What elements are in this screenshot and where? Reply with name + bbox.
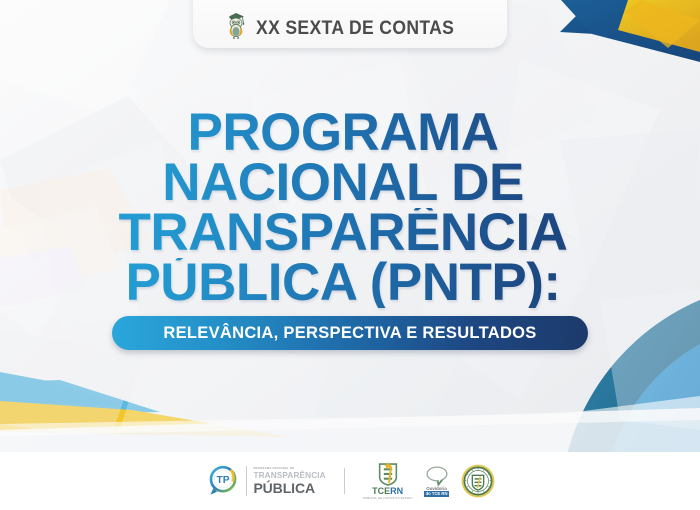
tce-rn-logo: TCERN TRIBUNAL DE CONTAS DO ESTADO — [363, 462, 413, 501]
ouvidoria-sub: do TCE RN — [424, 491, 450, 497]
footer-logo-bar: TP PROGRAMA NACIONAL DE TRANSPARÊNCIA PÚ… — [0, 452, 700, 510]
title-line-2: NACIONAL DE — [0, 158, 686, 208]
tce-circular-seal-icon — [461, 464, 495, 498]
title-line-4: PÚBLICA (PNTP): — [0, 258, 686, 308]
speech-bubble-icon — [424, 465, 450, 486]
tce-subtitle: TRIBUNAL DE CONTAS DO ESTADO — [363, 497, 413, 501]
tce-name-b: RN — [390, 486, 403, 496]
tp-magnifier-icon: TP — [205, 463, 241, 499]
pntp-logo: TP PROGRAMA NACIONAL DE TRANSPARÊNCIA PÚ… — [205, 463, 325, 499]
tce-shield-icon — [377, 462, 399, 486]
tce-wordmark: TCERN — [372, 487, 403, 496]
event-header-tab[interactable]: XX SEXTA DE CONTAS — [193, 0, 507, 48]
tce-name-a: TCE — [372, 486, 390, 496]
title-line-3: TRANSPARÊNCIA — [0, 208, 686, 258]
pntp-publica: PÚBLICA — [253, 481, 325, 496]
footer-logos: TP PROGRAMA NACIONAL DE TRANSPARÊNCIA PÚ… — [205, 462, 494, 501]
subtitle-text: RELEVÂNCIA, PERSPECTIVA E RESULTADOS — [163, 324, 536, 343]
subtitle-badge: RELEVÂNCIA, PERSPECTIVA E RESULTADOS — [112, 316, 588, 350]
pntp-wordmark: PROGRAMA NACIONAL DE TRANSPARÊNCIA PÚBLI… — [246, 466, 325, 496]
owl-graduation-cap-icon — [224, 10, 247, 40]
ouvidoria-logo: Ouvidoria do TCE RN — [424, 465, 450, 497]
title-line-1: PROGRAMA — [0, 108, 686, 158]
poster-canvas: XX SEXTA DE CONTAS PROGRAMA NACIONAL DE … — [0, 0, 700, 510]
page-title: PROGRAMA NACIONAL DE TRANSPARÊNCIA PÚBLI… — [0, 108, 700, 308]
svg-text:TP: TP — [217, 475, 230, 486]
footer-divider — [344, 468, 345, 494]
pntp-transparencia: TRANSPARÊNCIA — [253, 471, 325, 481]
event-title-text: XX SEXTA DE CONTAS — [256, 17, 454, 40]
